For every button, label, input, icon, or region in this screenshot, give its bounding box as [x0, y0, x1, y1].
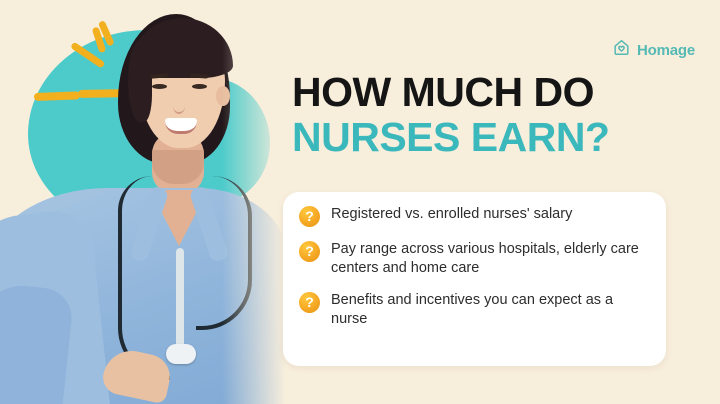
question-mark-icon: ?: [299, 241, 320, 262]
list-item-label: Registered vs. enrolled nurses' salary: [331, 205, 572, 224]
page-title: HOW MUCH DO NURSES EARN?: [292, 72, 692, 159]
hero-banner: Homage HOW MUCH DO NURSES EARN? ? Regist…: [0, 0, 720, 404]
stethoscope-tube-lower: [176, 248, 184, 356]
hair-side: [128, 40, 152, 122]
list-item-label: Pay range across various hospitals, elde…: [331, 240, 650, 278]
eye-left: [152, 84, 167, 89]
list-item: ? Benefits and incentives you can expect…: [299, 291, 650, 329]
stethoscope-chestpiece: [166, 344, 196, 364]
headline-line-1: HOW MUCH DO: [292, 72, 692, 114]
homage-logo[interactable]: Homage: [612, 38, 695, 62]
list-item: ? Pay range across various hospitals, el…: [299, 240, 650, 278]
nurse-photo: [0, 0, 296, 404]
question-mark-icon: ?: [299, 206, 320, 227]
house-heart-icon: [612, 38, 631, 62]
logo-wordmark: Homage: [637, 42, 695, 59]
scrubs-arm: [0, 282, 75, 404]
eye-right: [192, 84, 207, 89]
highlights-card: ? Registered vs. enrolled nurses' salary…: [283, 192, 666, 366]
question-mark-icon: ?: [299, 292, 320, 313]
list-item: ? Registered vs. enrolled nurses' salary: [299, 205, 650, 227]
headline-line-2: NURSES EARN?: [292, 117, 692, 159]
nose: [173, 98, 185, 114]
list-item-label: Benefits and incentives you can expect a…: [331, 291, 650, 329]
stethoscope-tube-left: [118, 176, 170, 380]
